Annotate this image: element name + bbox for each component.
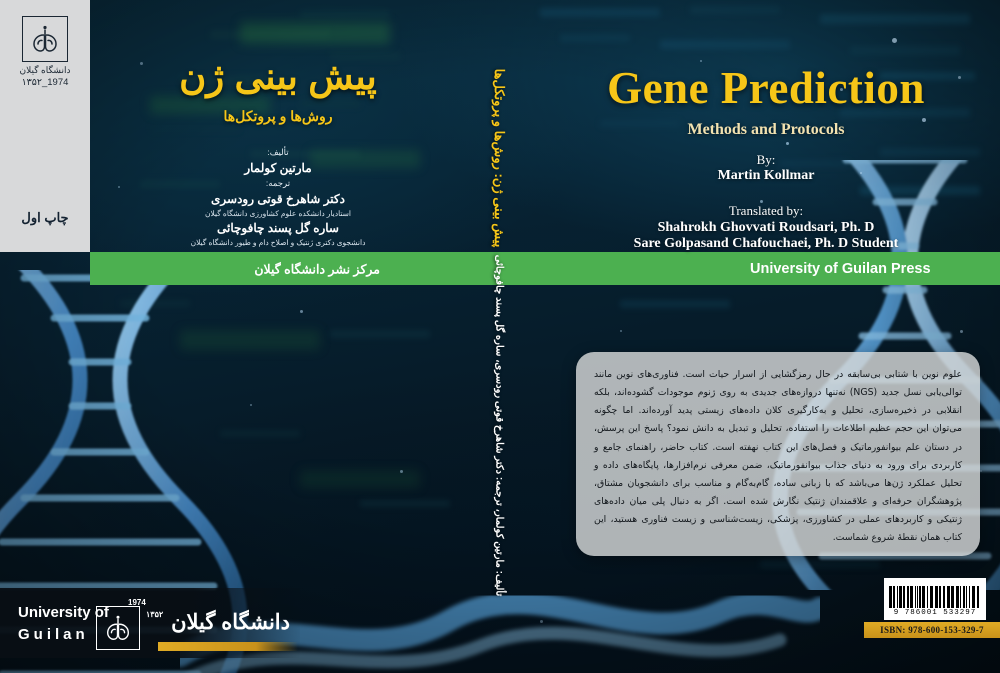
author-label-persian: تألیف: — [90, 146, 466, 159]
barcode-bar — [969, 586, 970, 608]
book-spine: پیش بینی ژن: روش‌ها و پروتکل‌ها تألیف: م… — [466, 0, 532, 673]
barcode-bar — [893, 586, 895, 608]
barcode-digits: 9 786001 533297 — [889, 609, 981, 617]
barcode-bar — [972, 586, 975, 608]
back-subtitle-persian: روش‌ها و پروتکل‌ها — [90, 108, 466, 125]
barcode-bar — [966, 586, 967, 608]
barcode-bar — [935, 586, 938, 608]
barcode-bar — [943, 586, 945, 608]
barcode-bar — [910, 586, 913, 608]
barcode-bar — [930, 586, 933, 608]
back-credits-persian: تألیف: مارتین کولمار ترجمه: دکتر شاهرخ ق… — [90, 146, 466, 248]
publisher-name-persian: مرکز نشر دانشگاه گیلان — [254, 261, 380, 276]
barcode-bars — [889, 582, 981, 608]
barcode-bar — [927, 586, 928, 608]
barcode-bar — [960, 586, 961, 608]
left-flap: دانشگاه گیلان ۱۳۵۲_1974 چاپ اول — [0, 0, 90, 252]
translator1-affiliation-persian: استادیار دانشکده علوم کشاورزی دانشگاه گی… — [90, 208, 466, 219]
spine-authors: تألیف: مارتین کولمار، ترجمه: دکتر شاهرخ … — [494, 255, 505, 596]
flap-university-logo: دانشگاه گیلان ۱۳۵۲_1974 — [10, 16, 80, 88]
barcode-bar — [907, 586, 909, 608]
translator1-name-persian: دکتر شاهرخ قوتی رودسری — [90, 190, 466, 208]
barcode-bar — [897, 586, 898, 608]
spine-title: پیش بینی ژن: روش‌ها و پروتکل‌ها — [491, 69, 507, 248]
barcode-bar — [947, 586, 950, 608]
barcode-bar — [915, 586, 916, 608]
barcode-bar — [963, 586, 965, 608]
bottom-logo-gold-accent — [158, 642, 298, 651]
front-subtitle: Methods and Protocols — [532, 121, 1000, 139]
translator2-name: Sare Golpasand Chafouchaei, Ph. D Studen… — [532, 236, 1000, 252]
barcode-bar — [899, 586, 902, 608]
barcode-bar — [922, 586, 925, 608]
barcode-bar — [956, 586, 959, 608]
translated-by-label: Translated by: — [532, 203, 1000, 219]
barcode-bar — [903, 586, 905, 608]
bottom-logo-persian: دانشگاه گیلان — [140, 610, 290, 635]
barcode-gap — [979, 607, 981, 608]
translator1-name: Shahrokh Ghovvati Roudsari, Ph. D — [532, 220, 1000, 236]
barcode-bar — [919, 586, 921, 608]
isbn-band: ISBN: 978-600-153-329-7 — [864, 622, 1000, 638]
barcode-bar — [977, 586, 979, 608]
translator-label-persian: ترجمه: — [90, 177, 466, 190]
publisher-name-english: University of Guilan Press — [750, 261, 931, 277]
barcode: 9 786001 533297 — [884, 578, 986, 620]
barcode-bar — [939, 586, 941, 608]
translator2-name-persian: ساره گل پسند چافوچائی — [90, 219, 466, 237]
back-title-persian: پیش بینی ژن — [90, 55, 466, 98]
barcode-bar — [917, 586, 918, 608]
author-name-persian: مارتین کولمار — [90, 159, 466, 177]
bottom-university-logo: University of Guilan 1974 ۱۳۵۲ دانشگاه گ… — [0, 588, 300, 658]
barcode-bar — [951, 586, 954, 608]
guilan-crest-icon — [22, 16, 68, 62]
flap-years: ۱۳۵۲_1974 — [10, 77, 80, 88]
front-cover-panel: Gene Prediction Methods and Protocols By… — [532, 0, 1000, 252]
book-cover: دانشگاه گیلان ۱۳۵۲_1974 چاپ اول مرکز نشر… — [0, 0, 1000, 673]
translator2-affiliation-persian: دانشجوی دکتری ژنتیک و اصلاح دام و طیور د… — [90, 237, 466, 248]
author-name: Martin Kollmar — [532, 168, 1000, 184]
back-abstract-text: علوم نوین با شتابی بی‌سابقه در حال رمزگش… — [576, 352, 980, 556]
guilan-crest-icon-bottom — [96, 606, 140, 650]
back-cover-panel: پیش بینی ژن روش‌ها و پروتکل‌ها تألیف: ما… — [90, 0, 466, 252]
flap-university-name: دانشگاه گیلان — [10, 65, 80, 76]
author-label: By: — [532, 152, 1000, 168]
front-title: Gene Prediction — [532, 62, 1000, 114]
edition-label: چاپ اول — [0, 210, 90, 226]
publisher-band: مرکز نشر دانشگاه گیلان University of Gui… — [90, 252, 1000, 285]
barcode-bar — [889, 586, 892, 608]
